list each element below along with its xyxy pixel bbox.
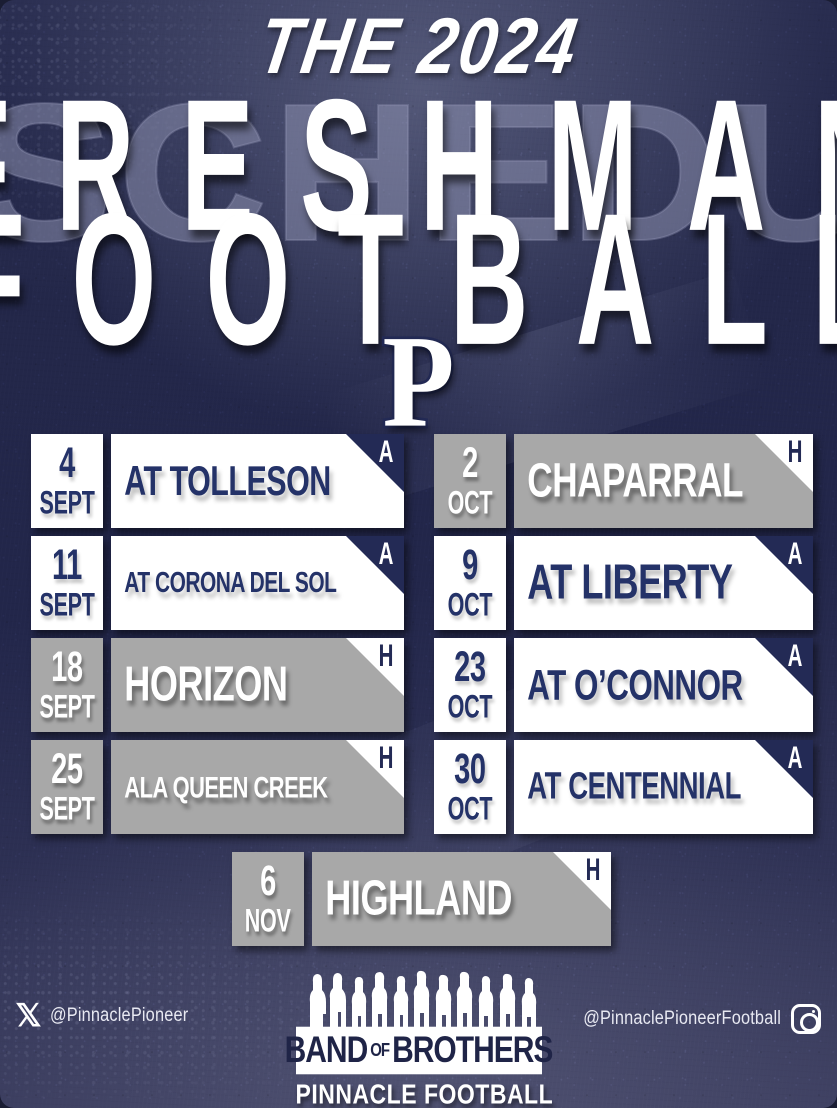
venue-corner-badge: H bbox=[346, 638, 404, 696]
date-month: OCT bbox=[448, 692, 493, 723]
band-of-brothers-wordmark: BANDOFBROTHERS bbox=[296, 1027, 542, 1075]
schedule-row-right-2: 23OCTAT O’CONNORA bbox=[434, 638, 813, 732]
bob-of-text: OF bbox=[370, 1041, 389, 1059]
instagram-link[interactable]: @PinnaclePioneerFootball bbox=[551, 1004, 821, 1034]
date-box: 11SEPT bbox=[31, 536, 103, 630]
corner-triangle-shape bbox=[755, 536, 813, 594]
date-box: 4SEPT bbox=[31, 434, 103, 528]
venue-letter: H bbox=[379, 740, 394, 776]
date-box: 25SEPT bbox=[31, 740, 103, 834]
twitter-link[interactable]: 𝕏 @PinnaclePioneer bbox=[16, 1000, 211, 1031]
opponent-card: ALA QUEEN CREEKH bbox=[111, 740, 404, 834]
date-day: 11 bbox=[52, 544, 82, 585]
x-twitter-icon: 𝕏 bbox=[15, 1000, 41, 1031]
date-month: SEPT bbox=[39, 590, 94, 621]
date-box: 30OCT bbox=[434, 740, 506, 834]
schedule-row-bottom-0: 6NOVHIGHLANDH bbox=[232, 852, 611, 946]
opponent-name: AT CENTENNIAL bbox=[514, 766, 741, 809]
date-box: 6NOV bbox=[232, 852, 304, 946]
date-box: 9OCT bbox=[434, 536, 506, 630]
opponent-name: AT O’CONNOR bbox=[514, 660, 743, 709]
opponent-card: AT CENTENNIALA bbox=[514, 740, 813, 834]
corner-triangle-shape bbox=[346, 536, 404, 594]
venue-letter: A bbox=[788, 638, 803, 674]
date-day: 18 bbox=[51, 646, 82, 687]
band-of-brothers-logo: BANDOFBROTHERS PINNACLE FOOTBALL bbox=[296, 968, 542, 1108]
row-gap bbox=[103, 536, 111, 630]
venue-corner-badge: A bbox=[755, 740, 813, 798]
venue-letter: A bbox=[788, 740, 803, 776]
row-gap bbox=[506, 740, 514, 834]
opponent-name: AT LIBERTY bbox=[514, 555, 732, 611]
schedule-row-right-1: 9OCTAT LIBERTYA bbox=[434, 536, 813, 630]
corner-triangle-shape bbox=[346, 638, 404, 696]
schedule-row-right-0: 2OCTCHAPARRALH bbox=[434, 434, 813, 528]
row-gap bbox=[506, 638, 514, 732]
schedule-row-left-3: 25SEPTALA QUEEN CREEKH bbox=[31, 740, 404, 834]
row-gap bbox=[103, 740, 111, 834]
opponent-card: CHAPARRALH bbox=[514, 434, 813, 528]
date-box: 18SEPT bbox=[31, 638, 103, 732]
row-gap bbox=[506, 536, 514, 630]
date-day: 9 bbox=[462, 544, 478, 585]
schedule-row-left-0: 4SEPTAT TOLLESONA bbox=[31, 434, 404, 528]
row-gap bbox=[506, 434, 514, 528]
opponent-name: AT CORONA DEL SOL bbox=[111, 566, 336, 600]
corner-triangle-shape bbox=[346, 740, 404, 798]
corner-triangle-shape bbox=[755, 638, 813, 696]
corner-triangle-shape bbox=[553, 852, 611, 910]
venue-letter: A bbox=[788, 536, 803, 572]
opponent-card: HIGHLANDH bbox=[312, 852, 611, 946]
date-month: OCT bbox=[448, 488, 493, 519]
date-month: NOV bbox=[245, 906, 291, 937]
venue-corner-badge: H bbox=[553, 852, 611, 910]
venue-corner-badge: A bbox=[346, 434, 404, 492]
venue-corner-badge: A bbox=[755, 638, 813, 696]
row-gap bbox=[304, 852, 312, 946]
venue-letter: A bbox=[379, 434, 394, 470]
date-month: SEPT bbox=[39, 692, 94, 723]
schedule-poster: SCHEDULE THE 2024 FRESHMAN FOOTBALL P 4S… bbox=[0, 0, 837, 1108]
venue-letter: H bbox=[379, 638, 394, 674]
date-day: 4 bbox=[59, 442, 75, 483]
opponent-card: HORIZONH bbox=[111, 638, 404, 732]
date-month: OCT bbox=[448, 590, 493, 621]
date-month: SEPT bbox=[39, 488, 94, 519]
instagram-icon bbox=[791, 1004, 821, 1034]
venue-letter: H bbox=[788, 434, 803, 470]
date-day: 23 bbox=[454, 646, 485, 687]
schedule-row-left-2: 18SEPTHORIZONH bbox=[31, 638, 404, 732]
date-box: 2OCT bbox=[434, 434, 506, 528]
twitter-handle-text: @PinnaclePioneer bbox=[50, 1005, 188, 1027]
date-day: 25 bbox=[51, 748, 82, 789]
venue-corner-badge: A bbox=[755, 536, 813, 594]
silhouette-players-icon bbox=[296, 968, 542, 1032]
opponent-name: HORIZON bbox=[111, 657, 287, 713]
venue-corner-badge: H bbox=[346, 740, 404, 798]
venue-corner-badge: H bbox=[755, 434, 813, 492]
corner-triangle-shape bbox=[755, 434, 813, 492]
corner-triangle-shape bbox=[755, 740, 813, 798]
opponent-name: HIGHLAND bbox=[312, 871, 512, 927]
opponent-name: CHAPARRAL bbox=[514, 454, 743, 509]
date-day: 6 bbox=[260, 860, 276, 901]
footer: 𝕏 @PinnaclePioneer bbox=[0, 960, 837, 1108]
opponent-card: AT CORONA DEL SOLA bbox=[111, 536, 404, 630]
venue-corner-badge: A bbox=[346, 536, 404, 594]
pinnacle-p-logo: P bbox=[0, 316, 837, 448]
instagram-handle-text: @PinnaclePioneerFootball bbox=[583, 1008, 781, 1030]
venue-letter: A bbox=[379, 536, 394, 572]
row-gap bbox=[103, 434, 111, 528]
opponent-card: AT LIBERTYA bbox=[514, 536, 813, 630]
corner-triangle-shape bbox=[346, 434, 404, 492]
schedule-row-left-1: 11SEPTAT CORONA DEL SOLA bbox=[31, 536, 404, 630]
row-gap bbox=[103, 638, 111, 732]
date-day: 2 bbox=[462, 442, 478, 483]
schedule-row-right-3: 30OCTAT CENTENNIALA bbox=[434, 740, 813, 834]
opponent-card: AT TOLLESONA bbox=[111, 434, 404, 528]
date-box: 23OCT bbox=[434, 638, 506, 732]
opponent-card: AT O’CONNORA bbox=[514, 638, 813, 732]
pinnacle-football-subtitle: PINNACLE FOOTBALL bbox=[296, 1078, 542, 1108]
bob-brothers-text: BROTHERS bbox=[392, 1033, 552, 1070]
venue-letter: H bbox=[586, 852, 601, 888]
date-day: 30 bbox=[454, 748, 485, 789]
opponent-name: AT TOLLESON bbox=[111, 457, 331, 505]
bob-band-text: BAND bbox=[285, 1033, 368, 1070]
opponent-name: ALA QUEEN CREEK bbox=[111, 769, 328, 804]
date-month: SEPT bbox=[39, 794, 94, 825]
date-month: OCT bbox=[448, 794, 493, 825]
